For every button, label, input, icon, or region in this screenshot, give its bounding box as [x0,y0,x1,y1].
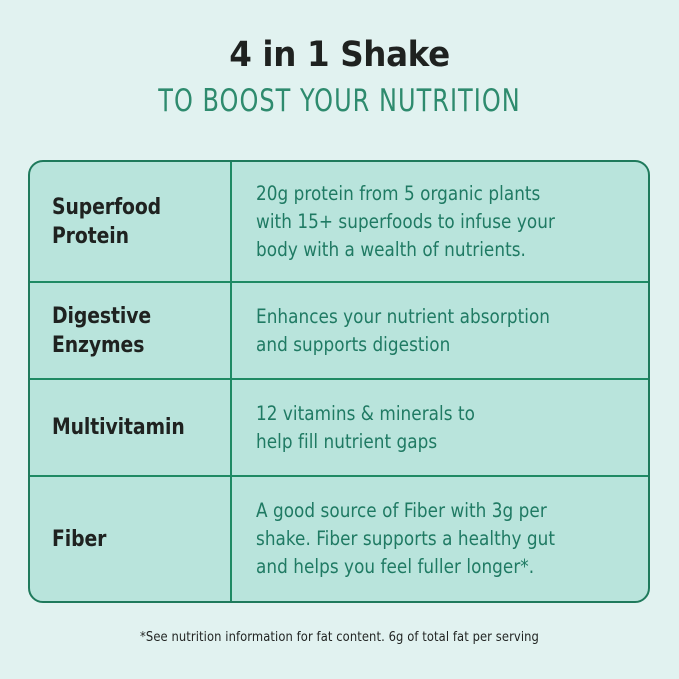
table-cell-label: Fiber [30,477,232,601]
row-label-line1: Multivitamin [52,415,185,440]
benefits-table-card: Superfood Protein 20g protein from 5 org… [28,160,650,603]
row-label: Superfood Protein [52,193,161,251]
row-label-line2: Protein [52,224,129,249]
row-label: Multivitamin [52,413,185,442]
infographic-page: 4 in 1 Shake TO BOOST YOUR NUTRITION Sup… [0,0,679,679]
row-description-line2: help fill nutrient gaps [256,430,437,453]
row-description-line1: A good source of Fiber with 3g per [256,499,547,522]
header: 4 in 1 Shake TO BOOST YOUR NUTRITION [0,34,679,120]
row-label-line1: Digestive [52,304,151,329]
row-description-line2: with 15+ superfoods to infuse your [256,210,555,233]
row-description-line1: 12 vitamins & minerals to [256,402,475,425]
row-description-line2: and supports digestion [256,333,450,356]
row-description: 12 vitamins & minerals to help fill nutr… [256,400,475,456]
row-label: Digestive Enzymes [52,302,151,360]
page-subtitle: TO BOOST YOUR NUTRITION [48,82,632,120]
row-label: Fiber [52,525,106,554]
table-cell-description: A good source of Fiber with 3g per shake… [232,477,648,601]
row-description-line1: 20g protein from 5 organic plants [256,182,540,205]
row-label-line1: Superfood [52,195,161,220]
table-row: Multivitamin 12 vitamins & minerals to h… [30,378,648,475]
row-description-line1: Enhances your nutrient absorption [256,305,550,328]
row-description: A good source of Fiber with 3g per shake… [256,497,555,581]
table-row: Digestive Enzymes Enhances your nutrient… [30,281,648,378]
table-row: Fiber A good source of Fiber with 3g per… [30,475,648,601]
footnote: *See nutrition information for fat conte… [17,628,662,646]
row-description-line3: body with a wealth of nutrients. [256,238,526,261]
table-cell-description: 12 vitamins & minerals to help fill nutr… [232,380,648,475]
row-description: Enhances your nutrient absorption and su… [256,303,550,359]
row-description: 20g protein from 5 organic plants with 1… [256,180,555,264]
table-cell-description: Enhances your nutrient absorption and su… [232,283,648,378]
table-row: Superfood Protein 20g protein from 5 org… [30,162,648,281]
page-title: 4 in 1 Shake [24,34,655,76]
table-cell-label: Superfood Protein [30,162,232,281]
table-cell-label: Digestive Enzymes [30,283,232,378]
row-label-line1: Fiber [52,527,106,552]
row-description-line2: shake. Fiber supports a healthy gut [256,527,555,550]
row-description-line3: and helps you feel fuller longer*. [256,555,534,578]
table-cell-description: 20g protein from 5 organic plants with 1… [232,162,648,281]
table-cell-label: Multivitamin [30,380,232,475]
row-label-line2: Enzymes [52,333,144,358]
